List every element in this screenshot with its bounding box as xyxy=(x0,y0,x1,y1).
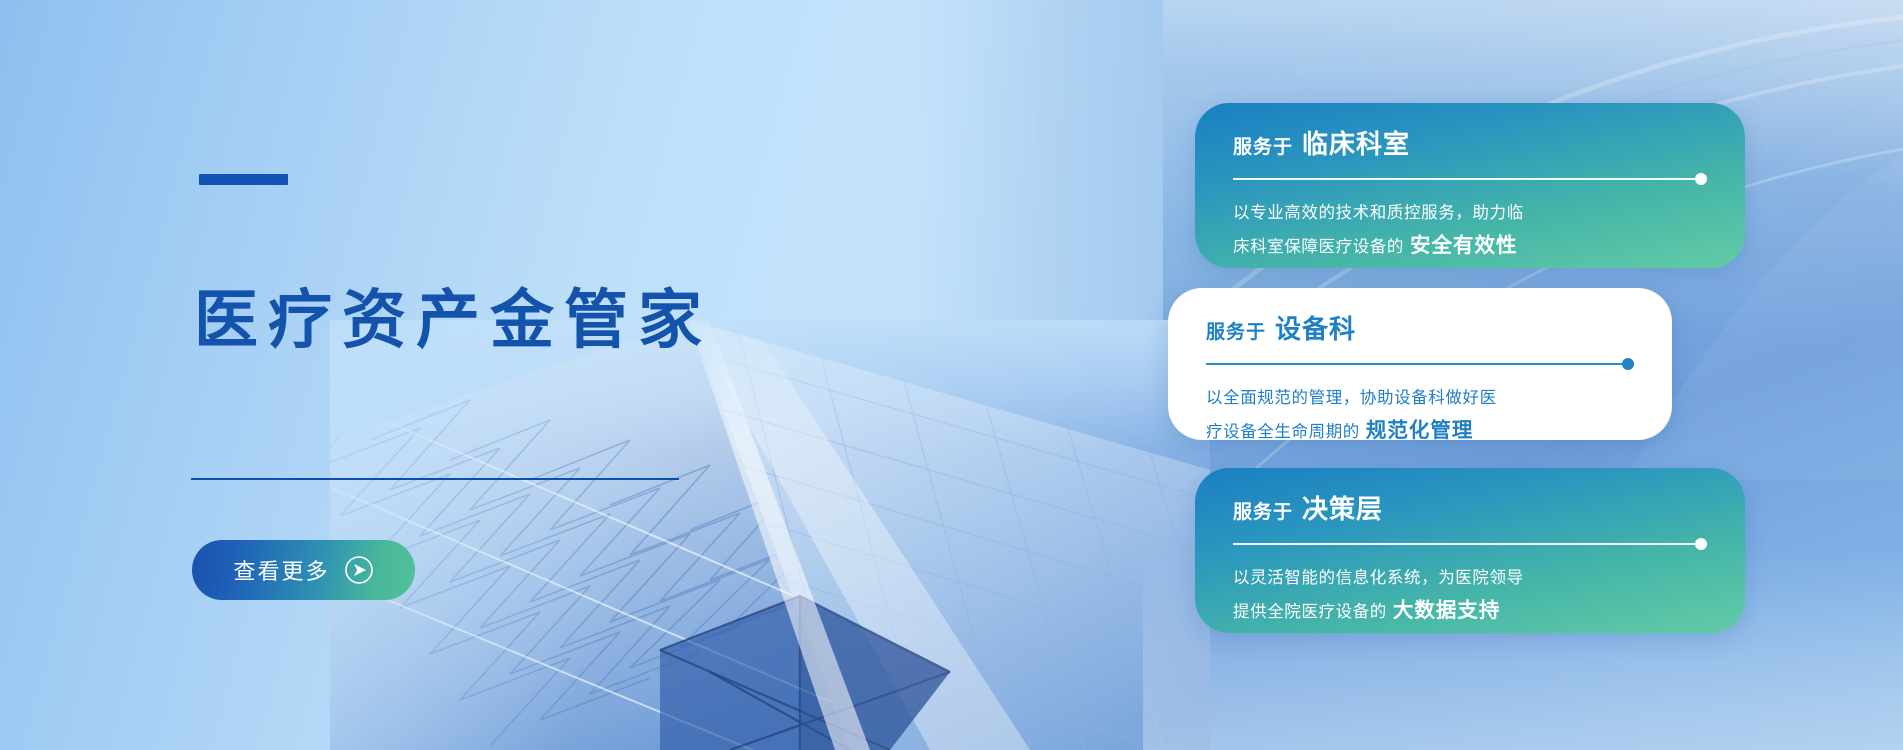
divider-rule xyxy=(191,478,679,480)
card-title-prefix: 服务于 xyxy=(1206,322,1266,343)
accent-dash xyxy=(199,174,288,185)
view-more-label: 查看更多 xyxy=(233,554,329,586)
view-more-button[interactable]: 查看更多 xyxy=(192,540,415,600)
card-divider-dot xyxy=(1622,358,1634,370)
card-desc-line1: 以专业高效的技术和质控服务，助力临 xyxy=(1233,204,1524,222)
page-title: 医疗资产金管家 xyxy=(194,288,712,352)
card-desc-highlight: 大数据支持 xyxy=(1393,599,1501,622)
card-description: 以专业高效的技术和质控服务，助力临 床科室保障医疗设备的安全有效性 xyxy=(1233,199,1707,263)
card-title: 服务于临床科室 xyxy=(1233,129,1707,160)
card-desc-highlight: 安全有效性 xyxy=(1410,234,1518,257)
card-desc-highlight: 规范化管理 xyxy=(1366,419,1474,442)
card-divider xyxy=(1233,538,1707,550)
card-desc-line2: 床科室保障医疗设备的 xyxy=(1233,238,1404,256)
card-divider xyxy=(1206,358,1634,370)
hero-banner: 医疗资产金管家 查看更多 服务于临床科室 以专业高效的技术和质控服务，助力临 xyxy=(0,0,1903,750)
card-description: 以全面规范的管理，协助设备科做好医 疗设备全生命周期的规范化管理 xyxy=(1206,384,1634,448)
card-divider-dot xyxy=(1695,173,1707,185)
card-title: 服务于设备科 xyxy=(1206,314,1634,345)
service-card-decision[interactable]: 服务于决策层 以灵活智能的信息化系统，为医院领导 提供全院医疗设备的大数据支持 xyxy=(1195,468,1745,633)
card-divider xyxy=(1233,173,1707,185)
arrow-right-circle-icon xyxy=(344,555,374,585)
card-desc-line1: 以灵活智能的信息化系统，为医院领导 xyxy=(1233,569,1524,587)
card-title-key: 设备科 xyxy=(1275,314,1356,344)
card-title-key: 临床科室 xyxy=(1302,129,1410,159)
service-card-clinical[interactable]: 服务于临床科室 以专业高效的技术和质控服务，助力临 床科室保障医疗设备的安全有效… xyxy=(1195,103,1745,268)
card-title-key: 决策层 xyxy=(1302,494,1383,524)
hero-left-content: 医疗资产金管家 查看更多 xyxy=(0,0,760,750)
card-title-prefix: 服务于 xyxy=(1233,502,1293,523)
card-title: 服务于决策层 xyxy=(1233,494,1707,525)
card-desc-line2: 提供全院医疗设备的 xyxy=(1233,603,1387,621)
card-desc-line2: 疗设备全生命周期的 xyxy=(1206,423,1360,441)
card-divider-dot xyxy=(1695,538,1707,550)
service-card-equipment[interactable]: 服务于设备科 以全面规范的管理，协助设备科做好医 疗设备全生命周期的规范化管理 xyxy=(1168,288,1672,440)
card-description: 以灵活智能的信息化系统，为医院领导 提供全院医疗设备的大数据支持 xyxy=(1233,564,1707,628)
card-desc-line1: 以全面规范的管理，协助设备科做好医 xyxy=(1206,389,1497,407)
card-title-prefix: 服务于 xyxy=(1233,137,1293,158)
